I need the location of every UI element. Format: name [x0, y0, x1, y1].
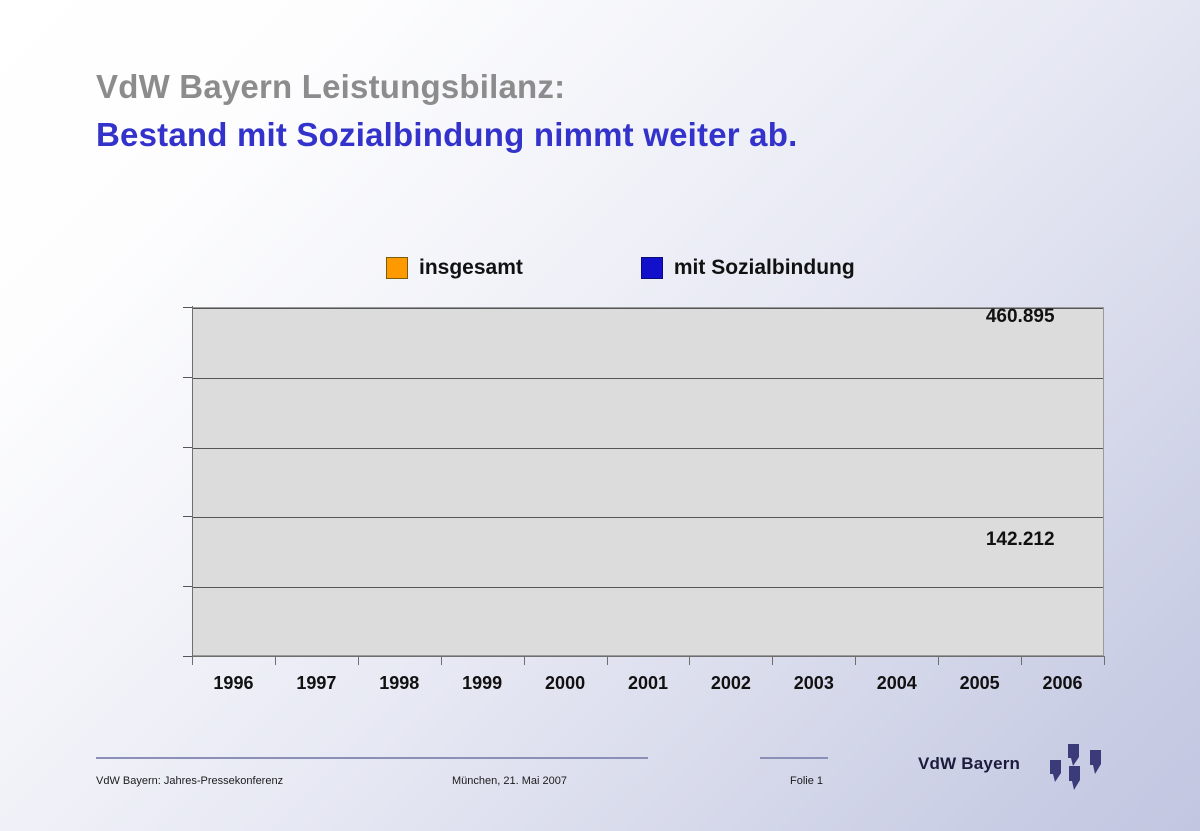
x-axis-tick-label-1999: 1999 [442, 673, 522, 694]
footer-divider-left [96, 757, 648, 759]
x-axis-tick-mark [524, 657, 525, 665]
x-axis-tick-label-2001: 2001 [608, 673, 688, 694]
y-axis-tick-mark [183, 586, 192, 587]
legend-label-mit-sozialbindung: mit Sozialbindung [674, 256, 855, 280]
page-title: VdW Bayern Leistungsbilanz: Bestand mit … [96, 68, 1096, 155]
x-axis-tick-mark [938, 657, 939, 665]
gridline [193, 378, 1103, 379]
x-axis-tick-mark [441, 657, 442, 665]
x-axis-tick-mark [275, 657, 276, 665]
x-axis-tick-mark [1021, 657, 1022, 665]
x-axis-line [192, 656, 1105, 657]
footer-center-text: München, 21. Mai 2007 [452, 775, 567, 787]
x-axis-tick-mark [192, 657, 193, 665]
x-axis-tick-label-1997: 1997 [276, 673, 356, 694]
legend-swatch-icon-insgesamt [386, 257, 408, 279]
legend-label-insgesamt: insgesamt [419, 256, 523, 280]
x-axis-tick-mark [772, 657, 773, 665]
x-axis-tick-label-2000: 2000 [525, 673, 605, 694]
gridline [193, 587, 1103, 588]
brand-wordmark: VdW Bayern [918, 754, 1020, 774]
x-axis-tick-mark [607, 657, 608, 665]
vdw-quote-marks-logo-icon [1048, 742, 1110, 794]
title-line-1: VdW Bayern Leistungsbilanz: [96, 68, 1096, 107]
footer-divider-right [760, 757, 828, 759]
x-axis-tick-label-2004: 2004 [857, 673, 937, 694]
x-axis-tick-label-2003: 2003 [774, 673, 854, 694]
x-axis-tick-mark [1104, 657, 1105, 665]
chart-legend: insgesamt mit Sozialbindung [386, 256, 855, 280]
y-axis-tick-mark [183, 656, 192, 657]
x-axis-tick-label-2005: 2005 [940, 673, 1020, 694]
title-line-2: Bestand mit Sozialbindung nimmt weiter a… [96, 115, 1096, 155]
gridline [193, 448, 1103, 449]
y-axis-tick-mark [183, 377, 192, 378]
gridline [193, 517, 1103, 518]
legend-item-insgesamt: insgesamt [386, 256, 523, 280]
y-axis-tick-mark [183, 516, 192, 517]
y-axis-line [192, 306, 193, 657]
y-axis-tick-mark [183, 447, 192, 448]
data-label-mit-sozialbindung-2006: 142.212 [945, 529, 1055, 551]
footer-left-text: VdW Bayern: Jahres-Pressekonferenz [96, 775, 283, 787]
y-axis-tick-mark [183, 307, 192, 308]
data-label-insgesamt-2006: 460.895 [945, 306, 1055, 328]
footer-page-number: Folie 1 [790, 775, 823, 787]
x-axis-tick-label-1998: 1998 [359, 673, 439, 694]
legend-swatch-icon-mit-sozialbindung [641, 257, 663, 279]
x-axis-tick-mark [689, 657, 690, 665]
x-axis-tick-mark [358, 657, 359, 665]
x-axis-tick-label-2002: 2002 [691, 673, 771, 694]
slide: VdW Bayern Leistungsbilanz: Bestand mit … [0, 0, 1200, 831]
x-axis-tick-label-2006: 2006 [1023, 673, 1103, 694]
x-axis-tick-mark [855, 657, 856, 665]
plot-area [192, 307, 1104, 656]
legend-item-mit-sozialbindung: mit Sozialbindung [641, 256, 855, 280]
x-axis-tick-label-1996: 1996 [193, 673, 273, 694]
